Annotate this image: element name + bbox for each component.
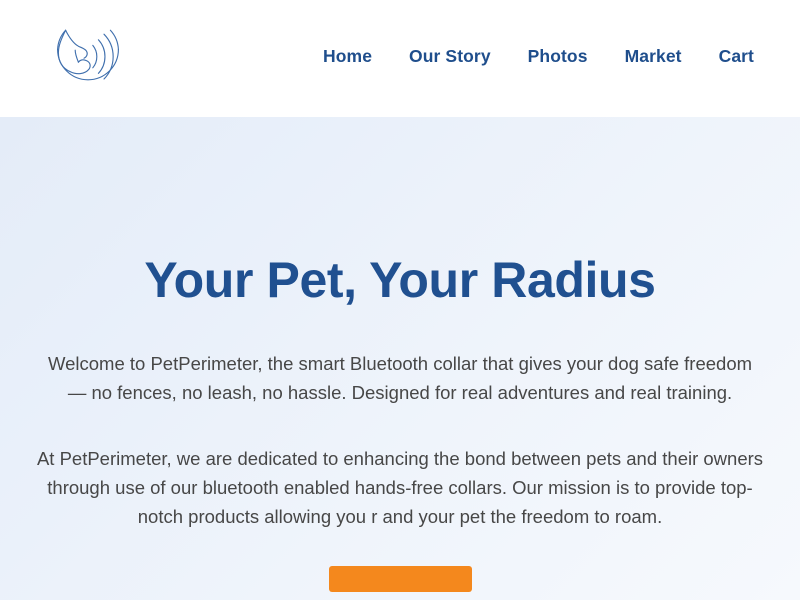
nav-link-photos[interactable]: Photos <box>528 48 588 66</box>
nav-link-market[interactable]: Market <box>625 48 682 66</box>
page-title: Your Pet, Your Radius <box>0 254 800 307</box>
hero-content: Your Pet, Your Radius Welcome to PetPeri… <box>0 117 800 592</box>
hero-section: Your Pet, Your Radius Welcome to PetPeri… <box>0 117 800 600</box>
pet-signal-logo-icon <box>48 19 128 99</box>
nav-link-home[interactable]: Home <box>323 48 372 66</box>
hero-mission-paragraph: At PetPerimeter, we are dedicated to enh… <box>28 444 772 531</box>
main-navigation: Home Our Story Photos Market Cart <box>323 48 754 66</box>
site-logo-link[interactable] <box>48 19 128 99</box>
cta-container <box>0 566 800 592</box>
hero-intro-paragraph: Welcome to PetPerimeter, the smart Bluet… <box>41 349 759 407</box>
site-header: Home Our Story Photos Market Cart <box>0 0 800 117</box>
nav-link-our-story[interactable]: Our Story <box>409 48 491 66</box>
hero-cta-button[interactable] <box>329 566 472 592</box>
nav-link-cart[interactable]: Cart <box>719 48 754 66</box>
